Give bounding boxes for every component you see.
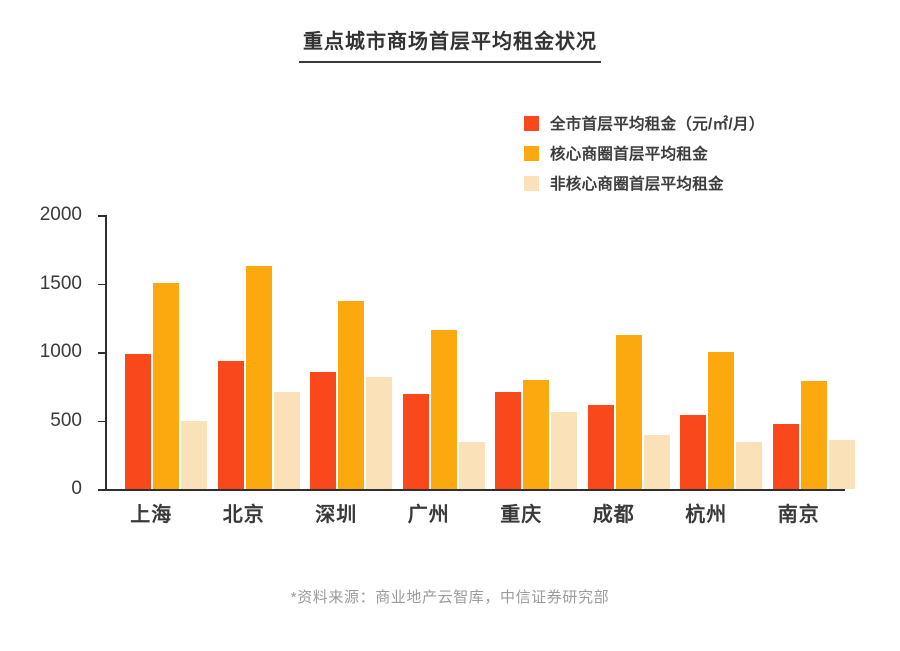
y-axis-tick-label: 0 [71, 478, 82, 500]
y-axis-tick-label: 2000 [40, 204, 82, 226]
bar[interactable] [829, 440, 855, 489]
y-axis-tick-mark [98, 489, 105, 491]
page-title: 重点城市商场首层平均租金状况 [299, 30, 601, 63]
bar[interactable] [680, 415, 706, 489]
x-axis-category-label: 深圳 [291, 498, 381, 527]
x-axis-category-label: 成都 [569, 498, 659, 527]
y-axis-tick-mark [98, 352, 105, 354]
legend-item-0[interactable]: 全市首层平均租金（元/㎡/月） [524, 110, 854, 136]
x-axis-line [105, 489, 845, 491]
bar[interactable] [125, 354, 151, 490]
source-footnote: *资料来源：商业地产云智库，中信证券研究部 [0, 586, 900, 607]
bar[interactable] [403, 394, 429, 490]
bar[interactable] [338, 301, 364, 489]
x-axis-category-label: 杭州 [661, 498, 751, 527]
bar-group [218, 215, 300, 489]
bar-group [125, 215, 207, 489]
bar[interactable] [274, 392, 300, 489]
x-axis-category-label: 广州 [384, 498, 474, 527]
bar[interactable] [431, 330, 457, 490]
chart-legend: 全市首层平均租金（元/㎡/月） 核心商圈首层平均租金 非核心商圈首层平均租金 [524, 110, 854, 200]
y-axis-tick-label: 1000 [40, 341, 82, 363]
y-axis-line [105, 215, 107, 491]
bar[interactable] [181, 421, 207, 490]
bar[interactable] [708, 352, 734, 489]
legend-color-swatch-icon [524, 146, 539, 161]
bar-group [773, 215, 855, 489]
bar[interactable] [773, 424, 799, 490]
legend-item-label: 全市首层平均租金（元/㎡/月） [550, 112, 765, 134]
bar-group [310, 215, 392, 489]
legend-item-label: 核心商圈首层平均租金 [550, 142, 708, 164]
chart-title-container: 重点城市商场首层平均租金状况 [0, 30, 900, 63]
bar[interactable] [218, 361, 244, 490]
bar[interactable] [310, 372, 336, 489]
bar[interactable] [551, 412, 577, 489]
legend-item-2[interactable]: 非核心商圈首层平均租金 [524, 170, 854, 196]
x-axis-category-label: 重庆 [476, 498, 566, 527]
legend-color-swatch-icon [524, 176, 539, 191]
legend-color-swatch-icon [524, 116, 539, 131]
y-axis-tick-label: 500 [50, 410, 82, 432]
bar[interactable] [644, 435, 670, 490]
bar[interactable] [736, 442, 762, 489]
bar[interactable] [366, 377, 392, 489]
y-axis-tick-mark [98, 421, 105, 423]
legend-item-1[interactable]: 核心商圈首层平均租金 [524, 140, 854, 166]
x-axis-category-labels: 上海北京深圳广州重庆成都杭州南京 [105, 498, 845, 532]
bar-group [495, 215, 577, 489]
x-axis-category-label: 南京 [754, 498, 844, 527]
chart-plot-area [105, 215, 845, 491]
bar-group [680, 215, 762, 489]
bar[interactable] [801, 381, 827, 489]
bar-group [403, 215, 485, 489]
x-axis-category-label: 上海 [106, 498, 196, 527]
y-axis-tick-mark [98, 215, 105, 217]
y-axis-tick-label: 1500 [40, 273, 82, 295]
bar[interactable] [616, 335, 642, 490]
bar[interactable] [153, 283, 179, 490]
bar[interactable] [495, 392, 521, 489]
bar[interactable] [523, 380, 549, 490]
y-axis-tick-mark [98, 284, 105, 286]
legend-item-label: 非核心商圈首层平均租金 [550, 172, 724, 194]
bar-group [588, 215, 670, 489]
bar[interactable] [588, 405, 614, 489]
bar[interactable] [246, 266, 272, 489]
bar[interactable] [459, 442, 485, 489]
y-axis-tick-labels: 0500100015002000 [0, 215, 95, 491]
x-axis-category-label: 北京 [199, 498, 289, 527]
